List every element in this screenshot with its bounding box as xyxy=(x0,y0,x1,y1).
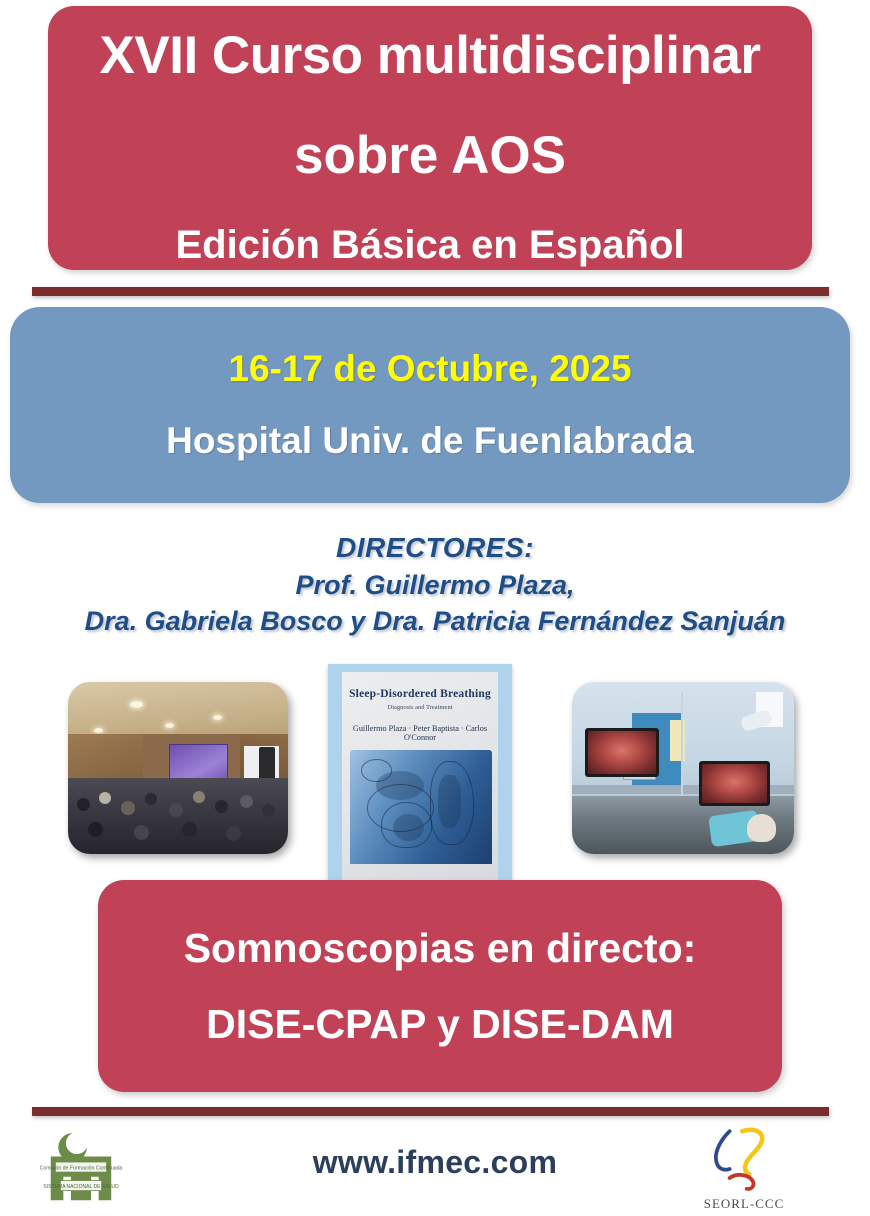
patient-head xyxy=(747,814,776,842)
course-title-line-2: sobre AOS xyxy=(294,128,566,184)
audience-head xyxy=(88,822,103,837)
seorl-ccc-label: SEORL-CCC xyxy=(688,1196,800,1212)
auditorium-audience xyxy=(68,778,288,854)
cfc-logo-bottom-text: SISTEMA NACIONAL DE SALUD xyxy=(43,1184,119,1190)
audience-head xyxy=(215,800,228,813)
live-sessions-banner: Somnoscopias en directo: DISE-CPAP y DIS… xyxy=(98,880,782,1092)
directors-heading: DIRECTORES: xyxy=(0,530,870,567)
audience-head xyxy=(169,803,183,817)
divider-top xyxy=(32,287,829,296)
audience-head xyxy=(121,801,135,815)
audience-head xyxy=(240,795,253,808)
seorl-ccc-logo: SEORL-CCC xyxy=(688,1124,800,1214)
audience-head xyxy=(182,822,197,837)
anatomy-shape xyxy=(361,759,391,782)
audience-head xyxy=(262,804,275,817)
directors-block: DIRECTORES: Prof. Guillermo Plaza, Dra. … xyxy=(0,530,870,640)
ceiling-light-icon xyxy=(213,715,222,720)
course-title-line-1: XVII Curso multidisciplinar xyxy=(100,28,761,84)
book-subtitle: Diagnosis and Treatment xyxy=(342,704,498,711)
live-sessions-line-2: DISE-CPAP y DISE-DAM xyxy=(206,1000,674,1048)
course-title-edition: Edición Básica en Español xyxy=(175,224,684,266)
audience-head xyxy=(77,798,90,811)
book-cover: Sleep-Disordered Breathing Diagnosis and… xyxy=(328,664,512,880)
audience-head xyxy=(193,791,205,803)
anatomy-shape xyxy=(438,775,461,827)
book-title: Sleep-Disordered Breathing xyxy=(342,688,498,700)
book-cover-page: Sleep-Disordered Breathing Diagnosis and… xyxy=(342,672,498,880)
course-title-banner: XVII Curso multidisciplinar sobre AOS Ed… xyxy=(48,6,812,270)
endoscopy-image xyxy=(702,764,767,803)
endoscopy-monitor-right xyxy=(699,761,770,806)
book-authors: Guillermo Plaza · Peter Baptista · Carlo… xyxy=(342,724,498,742)
endoscopy-image xyxy=(588,731,655,773)
event-venue: Hospital Univ. de Fuenlabrada xyxy=(166,420,694,462)
live-sessions-line-1: Somnoscopias en directo: xyxy=(184,924,697,972)
director-name-1: Prof. Guillermo Plaza, xyxy=(0,567,870,603)
audience-head xyxy=(99,792,111,804)
date-venue-banner: 16-17 de Octubre, 2025 Hospital Univ. de… xyxy=(10,307,850,503)
poster-root: XVII Curso multidisciplinar sobre AOS Ed… xyxy=(0,0,870,1216)
footer: Comisión de Formación Continuada SISTEMA… xyxy=(0,1118,870,1216)
ceiling-light-icon xyxy=(130,701,143,708)
or-wall-poster xyxy=(670,720,686,761)
director-name-2: Dra. Gabriela Bosco y Dra. Patricia Fern… xyxy=(0,603,870,639)
audience-head xyxy=(134,825,149,840)
seorl-ccc-logo-icon xyxy=(688,1124,800,1196)
anatomy-shape xyxy=(393,814,424,841)
endoscopy-monitor-left xyxy=(585,728,658,776)
auditorium-photo xyxy=(68,682,288,854)
audience-head xyxy=(226,826,241,841)
divider-bottom xyxy=(32,1107,829,1116)
book-cover-anatomy-illustration xyxy=(350,750,492,864)
audience-head xyxy=(145,793,157,805)
operating-room-photo xyxy=(572,682,794,854)
event-date: 16-17 de Octubre, 2025 xyxy=(228,348,631,390)
